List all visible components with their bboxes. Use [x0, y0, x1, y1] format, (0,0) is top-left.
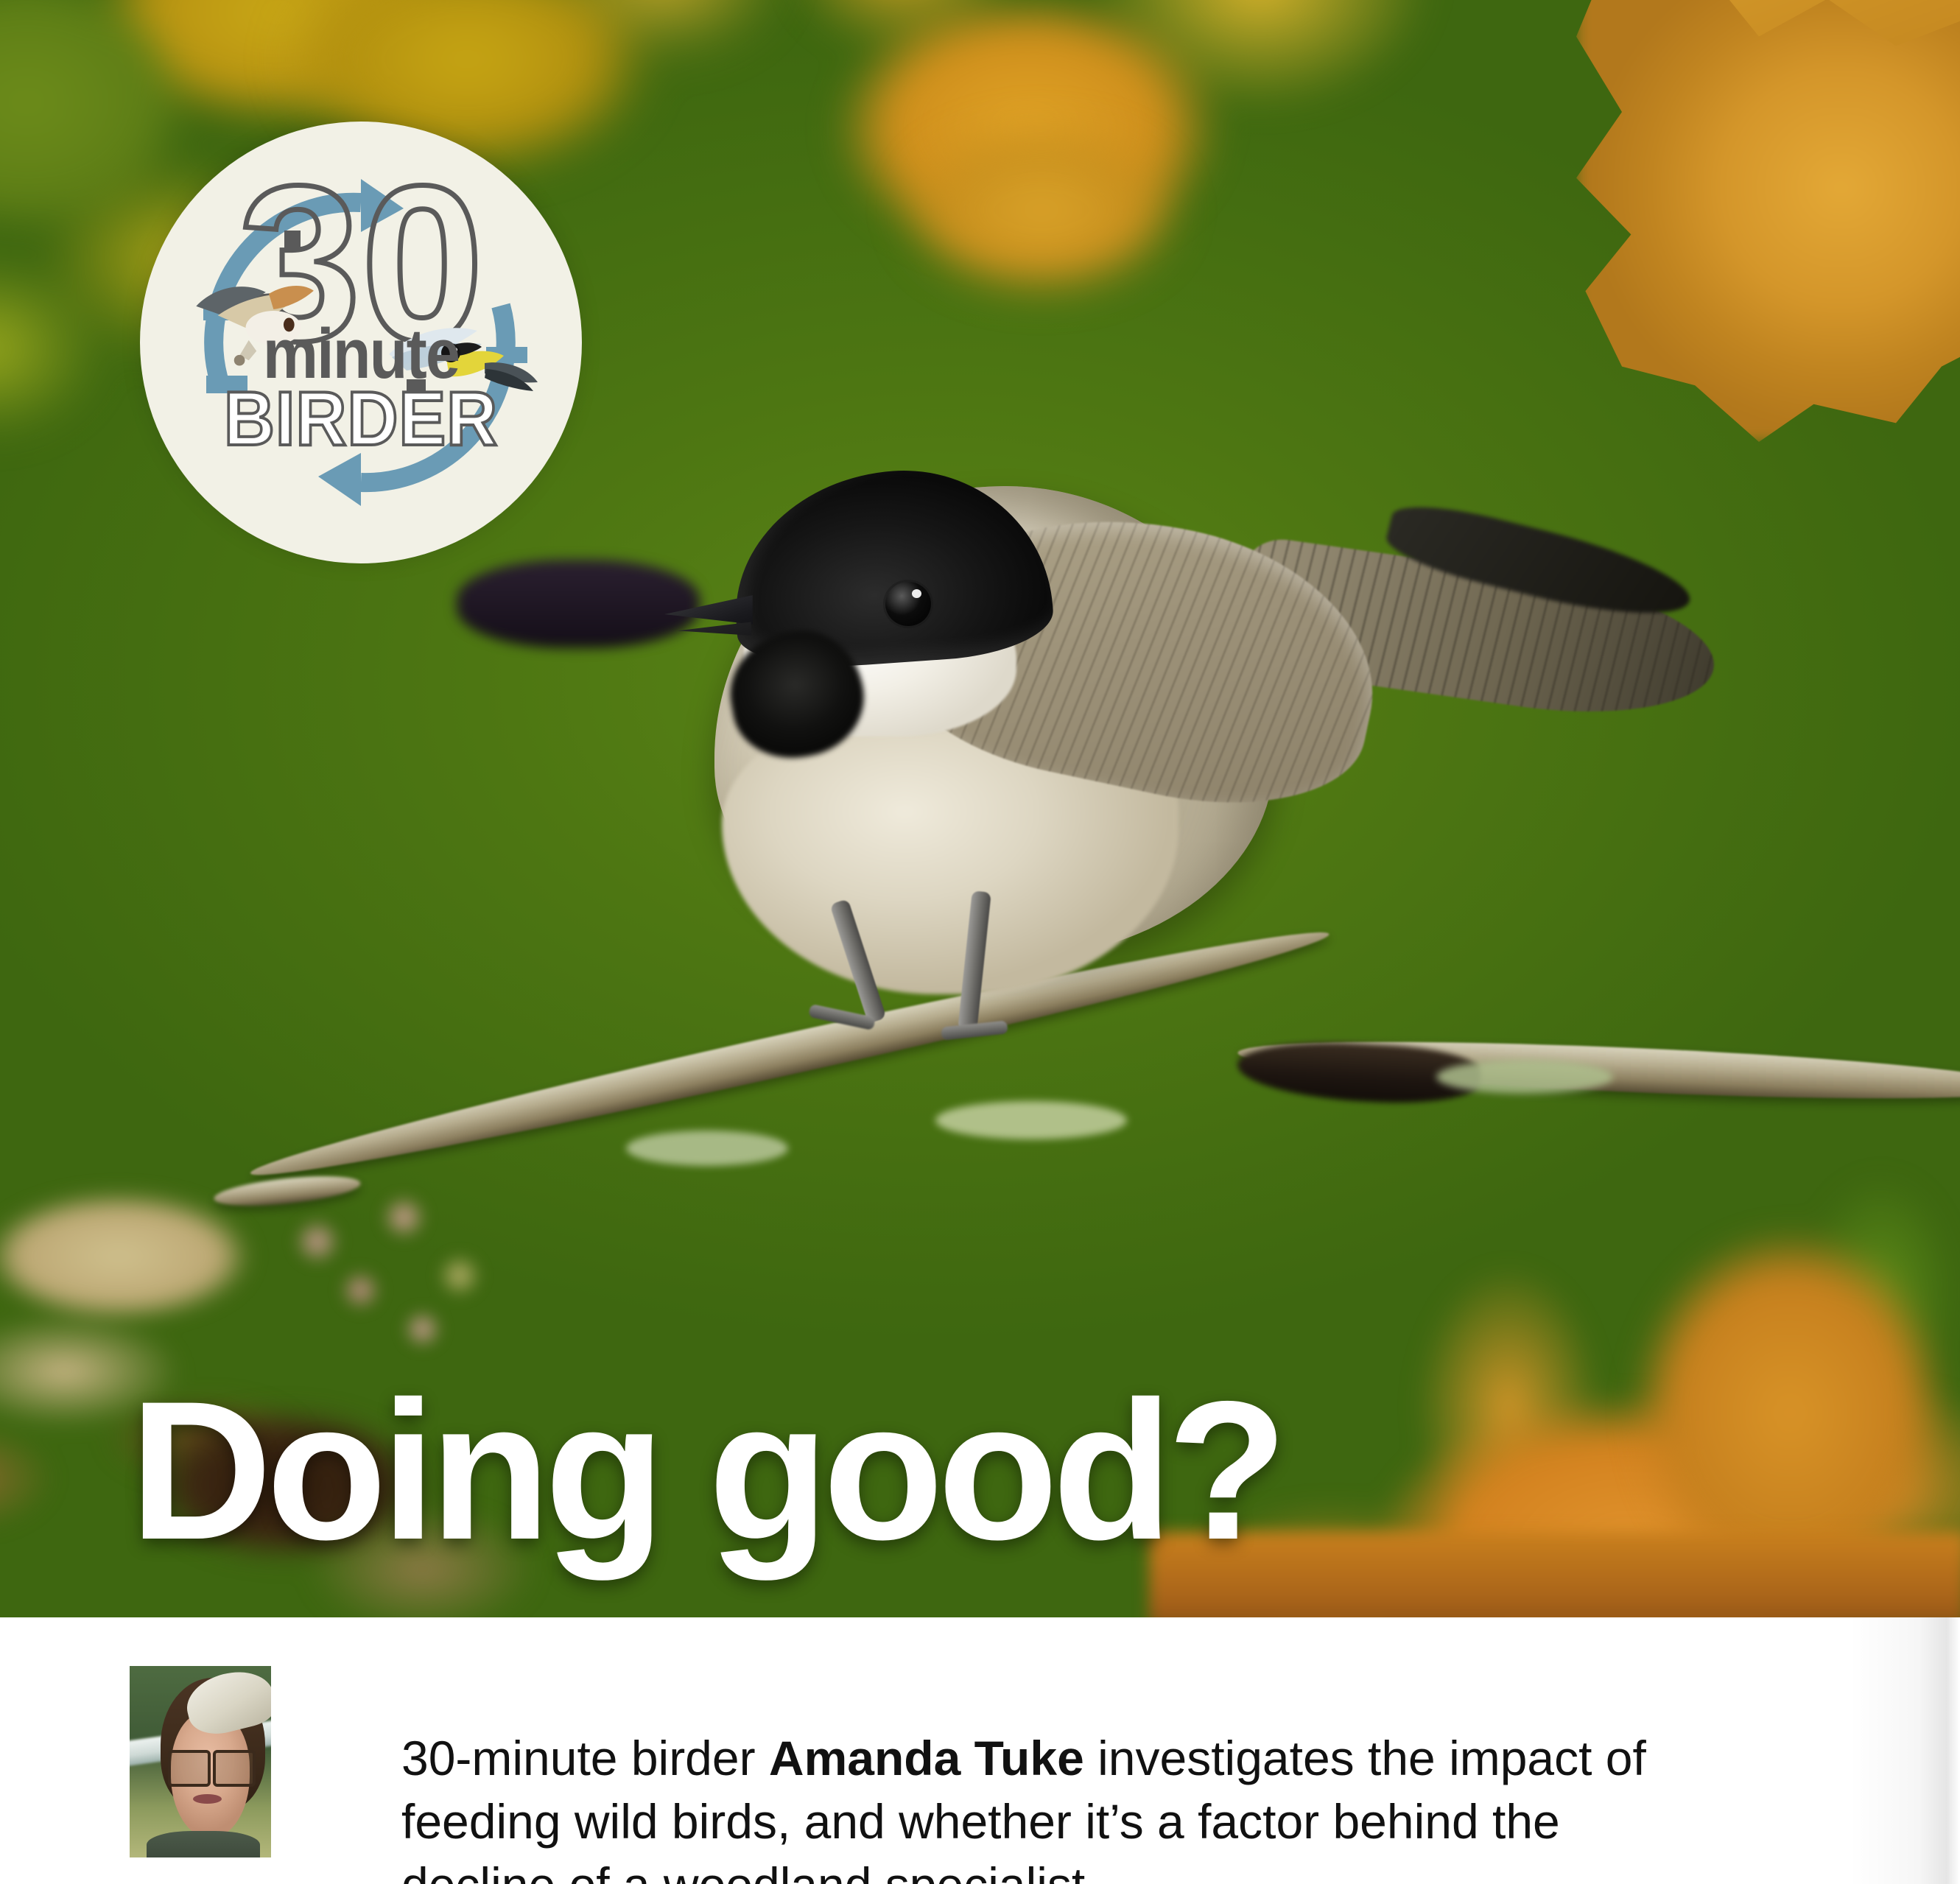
branch-lichen-3: [1436, 1060, 1613, 1094]
bird-tail: [1231, 535, 1724, 733]
bird-cheek: [744, 567, 1016, 737]
bird-leg-right: [958, 890, 991, 1032]
branch-knot: [1236, 1037, 1482, 1107]
bird-foot-left: [808, 1004, 876, 1030]
leaf-top-middle-2-icon: [869, 88, 1252, 331]
leaf-bottom-right-2-icon: [1584, 1149, 1960, 1617]
branch-main: [246, 914, 1334, 1193]
avatar: [130, 1666, 271, 1857]
oak-leaf-top-right-2-icon: [1694, 0, 1960, 162]
branch-right: [1237, 1030, 1960, 1109]
bird-belly: [722, 700, 1179, 994]
branch-lichen-2: [935, 1101, 1127, 1139]
bird-leg-left: [829, 899, 886, 1024]
oak-leaf-top-right-icon: [1576, 0, 1960, 442]
branch-lichen-1: [626, 1131, 788, 1166]
standfirst-lead-in: 30-minute birder: [401, 1731, 769, 1785]
logo-birder-label: BIRDER: [158, 381, 564, 457]
page-edge-shadow: [1850, 1617, 1960, 1884]
bird-wing: [884, 477, 1400, 834]
bird-body: [714, 486, 1274, 957]
bird-eye: [885, 582, 931, 626]
branch-shadow-knot: [457, 560, 700, 648]
standfirst-text: 30-minute birder Amanda Tuke investigate…: [401, 1726, 1668, 1884]
marsh-tit-bird: [648, 383, 1960, 1090]
thirty-minute-birder-logo[interactable]: 30: [140, 122, 582, 563]
author-name: Amanda Tuke: [769, 1731, 1084, 1785]
glasses-icon: [168, 1750, 256, 1781]
page-title: Doing good?: [130, 1371, 1282, 1569]
bird-black-bib: [721, 622, 874, 768]
bird-foot-right: [941, 1020, 1008, 1040]
magazine-article-page: 30: [0, 0, 1960, 1884]
bird-tail-dark: [1381, 494, 1697, 633]
bird-black-cap: [726, 460, 1055, 673]
hero-photograph: 30: [0, 0, 1960, 1617]
leaf-top-middle-icon: [795, 0, 1458, 324]
branch-tip: [213, 1171, 362, 1212]
caption-strip: 30-minute birder Amanda Tuke investigate…: [0, 1617, 1960, 1884]
branch: [184, 1027, 1960, 1248]
